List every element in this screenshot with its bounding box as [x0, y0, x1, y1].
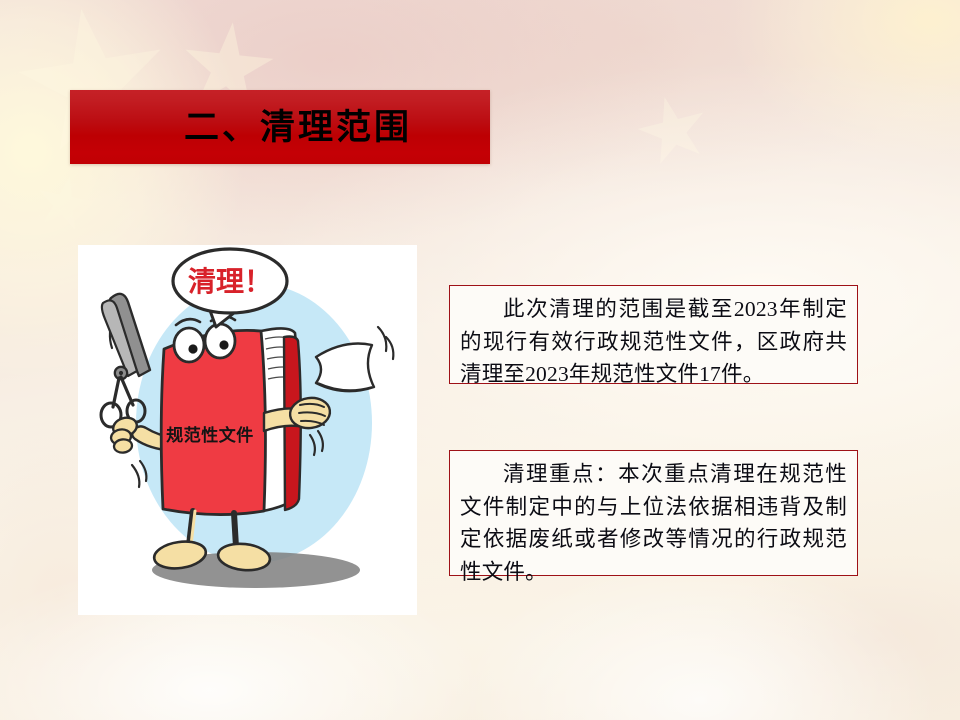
speech-bubble-label: 清理！	[188, 266, 272, 298]
callout-focus-text: 清理重点：本次重点清理在规范性文件制定中的与上位法依据相违背及制定依据废纸或者修…	[460, 458, 847, 589]
page-title: 二、清理范围	[148, 110, 412, 145]
callout-focus: 清理重点：本次重点清理在规范性文件制定中的与上位法依据相违背及制定依据废纸或者修…	[449, 450, 858, 576]
callout-scope: 此次清理的范围是截至2023年制定的现行有效行政规范性文件，区政府共清理至202…	[449, 285, 858, 384]
illustration-panel: 规范性文件	[78, 245, 417, 615]
star-icon	[31, 171, 97, 237]
star-icon	[631, 89, 716, 174]
book-cover-label: 规范性文件	[166, 425, 254, 445]
book-cover	[161, 330, 265, 514]
cartoon-document-cleanup-illustration: 规范性文件	[78, 245, 417, 615]
callout-scope-text: 此次清理的范围是截至2023年制定的现行有效行政规范性文件，区政府共清理至202…	[460, 293, 847, 391]
presentation-slide: 二、清理范围	[0, 0, 960, 720]
section-title-banner: 二、清理范围	[70, 90, 490, 164]
